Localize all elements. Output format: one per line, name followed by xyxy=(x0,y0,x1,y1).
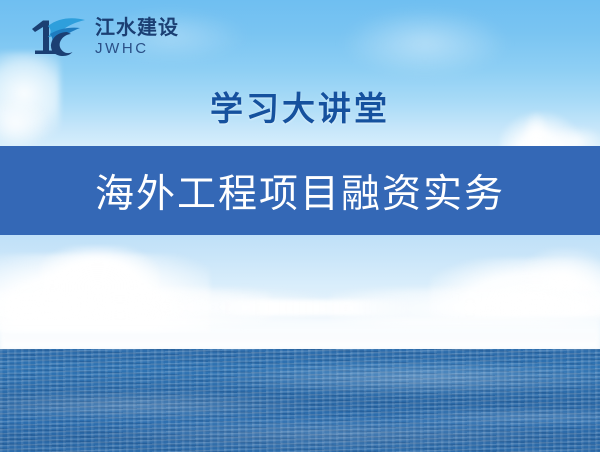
company-name-cn: 江水建设 xyxy=(95,17,179,37)
page-title: 学习大讲堂 xyxy=(0,82,600,130)
brand-logo[interactable]: 江水建设 JWHC xyxy=(28,14,179,58)
company-name-en: JWHC xyxy=(95,41,179,56)
jwhc-wave-logo-mark xyxy=(28,14,88,58)
course-poster: 江水建设 JWHC 学习大讲堂 海外工程项目融资实务 xyxy=(0,0,600,452)
logo-text-block: 江水建设 JWHC xyxy=(95,17,179,56)
sea-surface xyxy=(0,349,600,452)
horizon-haze xyxy=(0,318,600,350)
course-title: 海外工程项目融资实务 xyxy=(95,163,505,219)
cloud-cumulus-right-top xyxy=(520,248,600,292)
cloud-haze-upper-right xyxy=(340,8,510,78)
course-title-banner: 海外工程项目融资实务 xyxy=(0,146,600,235)
